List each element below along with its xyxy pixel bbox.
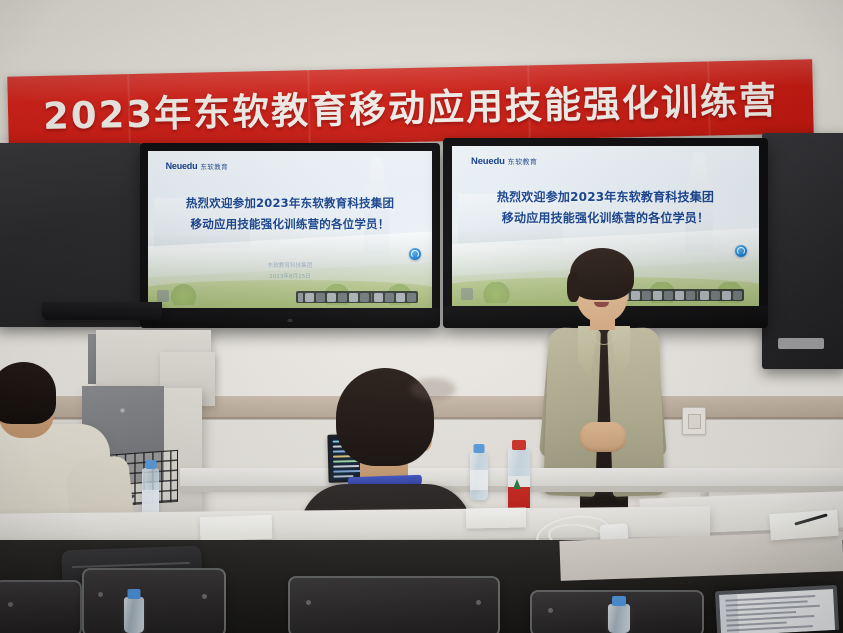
water-bottle-red-label[interactable] (508, 448, 530, 516)
redo-icon[interactable] (349, 293, 358, 302)
close-icon[interactable] (407, 293, 416, 302)
neuedu-logo-mark: Neuedu (471, 156, 505, 167)
panel-label (778, 338, 824, 349)
right-display-corner-button[interactable] (461, 288, 473, 300)
left-wall-panel (0, 143, 142, 327)
slide-tree (483, 282, 511, 303)
eraser-icon[interactable] (316, 293, 325, 302)
standing-presenter (524, 246, 684, 536)
toolbar-divider (371, 293, 372, 302)
chair-center[interactable] (288, 576, 500, 633)
handout-left[interactable] (200, 515, 273, 541)
help-orb-icon[interactable] (409, 248, 421, 260)
left-slide-footer: 东软教育科技集团 2023年8月15日 (148, 261, 432, 283)
right-wall-panel (762, 133, 843, 369)
save-icon[interactable] (385, 293, 394, 302)
right-slide-body: 热烈欢迎参加2023年东软教育科技集团 移动应用技能强化训练营的各位学员！ (452, 187, 759, 229)
bottle-label (508, 476, 530, 508)
neuedu-logo-cn: 东软教育 (200, 161, 228, 171)
left-display-corner-button[interactable] (157, 290, 169, 302)
left-slide-line2: 移动应用技能强化训练营的各位学员！ (148, 214, 432, 234)
page-icon[interactable] (374, 293, 383, 302)
chair-left-2[interactable] (0, 580, 82, 633)
left-display-chin (140, 308, 440, 328)
menu-icon[interactable] (722, 291, 731, 300)
left-slide-footer-date: 2023年8月15日 (148, 272, 432, 283)
attendee-left-hair (0, 362, 56, 424)
right-slide-line2: 移动应用技能强化训练营的各位学员！ (452, 208, 759, 229)
laptop-screen-document[interactable] (719, 589, 835, 633)
close-icon[interactable] (733, 291, 742, 300)
right-slide-line1: 热烈欢迎参加2023年东软教育科技集团 (452, 187, 759, 208)
attendee-center-hair (336, 368, 434, 466)
undo-icon[interactable] (338, 293, 347, 302)
select-icon[interactable] (360, 293, 369, 302)
water-bottle-chair[interactable] (124, 597, 144, 633)
handout-right[interactable] (769, 510, 839, 541)
cursor-icon[interactable] (305, 293, 314, 302)
pen-icon[interactable] (298, 293, 303, 302)
left-slide-footer-org: 东软教育科技集团 (148, 261, 432, 272)
wall-light-switch[interactable] (682, 407, 706, 435)
bottle-cap (128, 589, 141, 599)
left-smart-display[interactable]: Neuedu 东软教育 热烈欢迎参加2023年东软教育科技集团 移动应用技能强化… (140, 143, 440, 328)
chair-left-1[interactable] (82, 568, 226, 633)
neuedu-logo: Neuedu 东软教育 (166, 161, 228, 171)
help-orb-icon[interactable] (735, 245, 747, 257)
presenter-hair (570, 248, 634, 300)
presenter-clasped-hands (580, 422, 626, 452)
attendee-laptop-document[interactable] (715, 585, 839, 633)
lectern-monitor (42, 302, 162, 320)
bottle-cap (612, 596, 626, 606)
classroom-photo: 2023年东软教育移动应用技能强化训练营 Neuedu 东软教育 热烈欢迎参加2… (0, 0, 843, 633)
save-icon[interactable] (711, 291, 720, 300)
neuedu-logo-cn: 东软教育 (508, 157, 538, 167)
neuedu-logo: Neuedu 东软教育 (471, 156, 537, 167)
select-icon[interactable] (686, 291, 695, 300)
slide-tree (171, 284, 197, 304)
water-bottle-foreground[interactable] (608, 604, 630, 633)
attendee-center-hair-highlight (410, 378, 456, 400)
left-display-screen[interactable]: Neuedu 东软教育 热烈欢迎参加2023年东软教育科技集团 移动应用技能强化… (148, 151, 432, 308)
toolbar-divider (697, 291, 698, 300)
page-icon[interactable] (700, 291, 709, 300)
neuedu-logo-mark: Neuedu (166, 161, 198, 171)
left-slide-body: 热烈欢迎参加2023年东软教育科技集团 移动应用技能强化训练营的各位学员！ (148, 193, 432, 233)
ir-sensor-icon (288, 319, 293, 322)
shape-icon[interactable] (327, 293, 336, 302)
menu-icon[interactable] (396, 293, 405, 302)
left-slide-line1: 热烈欢迎参加2023年东软教育科技集团 (148, 193, 432, 213)
bottle-cap (512, 440, 526, 450)
handout-center[interactable] (466, 507, 526, 528)
left-display-toolbar[interactable] (296, 291, 418, 303)
